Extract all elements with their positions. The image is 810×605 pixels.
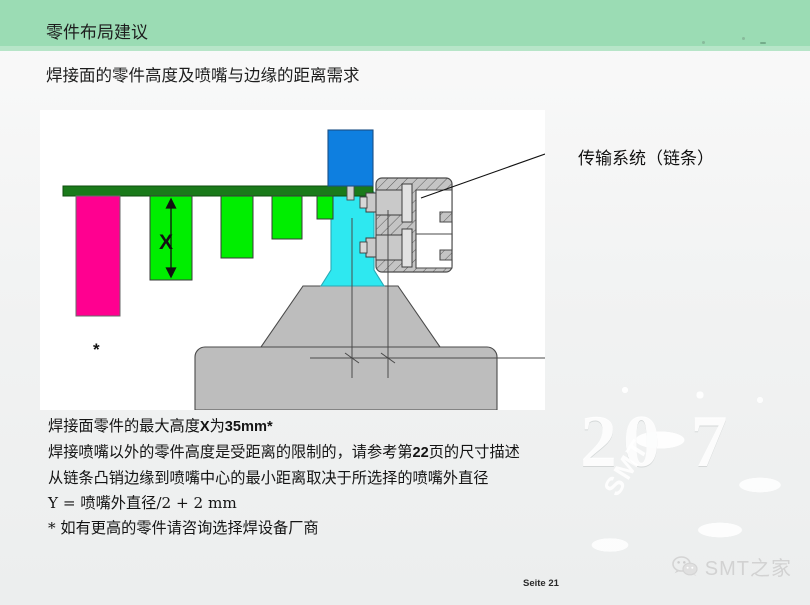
body-line-5: * 如有更高的零件请咨询选择焊设备厂商 — [48, 516, 668, 541]
asterisk-mark: * — [93, 340, 100, 359]
conveyor-callout-label: 传输系统（链条） — [578, 144, 714, 169]
component-green-3 — [272, 196, 302, 239]
technical-diagram-panel: X * — [40, 110, 545, 410]
watermark: SMT之家 — [672, 552, 792, 581]
body-line-1: 焊接面零件的最大高度X为35mm* — [48, 414, 668, 440]
header-speckle-icon — [698, 34, 788, 46]
slide-header-underline — [0, 46, 810, 51]
callout-leader-line — [421, 154, 545, 198]
component-green-4 — [317, 196, 333, 219]
wechat-icon — [672, 556, 698, 578]
page-title: 零件布局建议 — [46, 18, 148, 43]
body-text-block: 焊接面零件的最大高度X为35mm* 焊接喷嘴以外的零件高度是受距离的限制的，请参… — [48, 414, 668, 541]
body-line-2: 焊接喷嘴以外的零件高度是受距离的限制的，请参考第22页的尺寸描述 — [48, 440, 668, 466]
slide-canvas: 20 7 SMT 零件布局建议 焊接面的零件高度及喷嘴与边缘的距离需求 — [0, 0, 810, 605]
body-line-4: Y = 喷嘴外直径/2 + 2 mm — [48, 491, 668, 516]
page-number: Seite 21 — [523, 578, 559, 589]
solder-pot-base — [195, 347, 497, 410]
watermark-text: SMT之家 — [705, 552, 792, 581]
slide-subtitle: 焊接面的零件高度及喷嘴与边缘的距离需求 — [46, 62, 360, 86]
nozzle-riser-trapezoid — [261, 286, 440, 347]
pcb-board — [63, 186, 373, 196]
dimension-x-label: X — [159, 231, 173, 254]
blue-top-side-block — [328, 130, 373, 186]
tall-magenta-component — [76, 196, 120, 316]
component-green-2 — [221, 196, 253, 258]
body-line-3: 从链条凸销边缘到喷嘴中心的最小距离取决于所选择的喷嘴外直径 — [48, 466, 668, 491]
